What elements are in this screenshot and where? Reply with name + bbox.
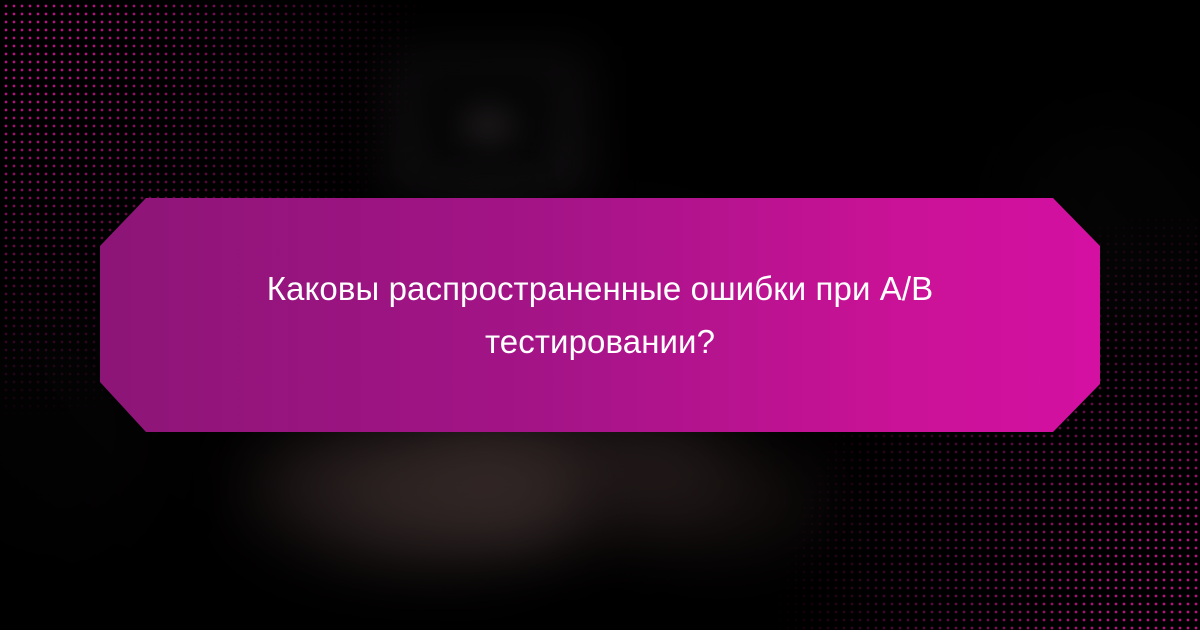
banner-title-text: Каковы распространенные ошибки при A/B т…: [230, 262, 970, 369]
social-share-card: Каковы распространенные ошибки при A/B т…: [0, 0, 1200, 630]
title-banner: Каковы распространенные ошибки при A/B т…: [100, 198, 1100, 432]
